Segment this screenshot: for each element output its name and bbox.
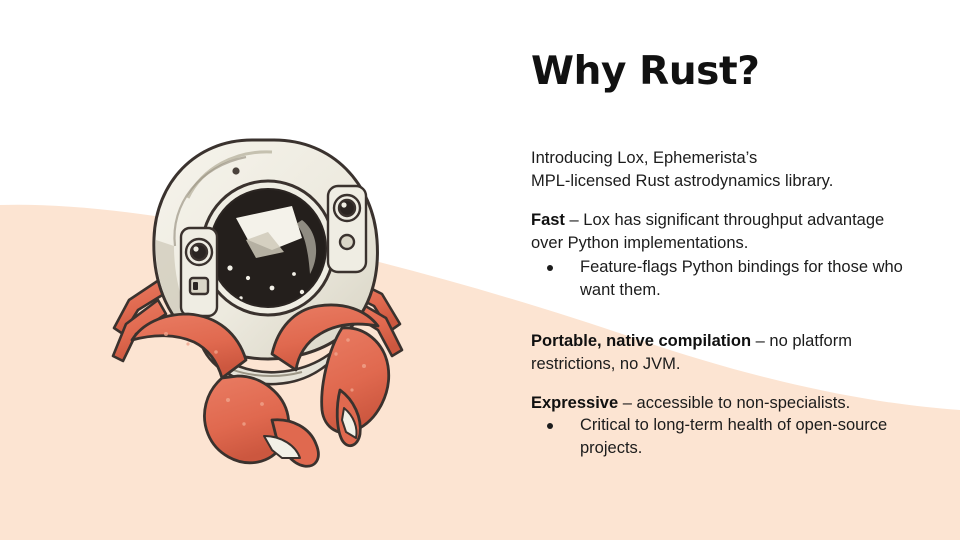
- point-portable-dash: –: [751, 332, 769, 350]
- bullet-critical-health: Critical to long-term health of open-sou…: [531, 414, 911, 460]
- point-expressive-rest: accessible to non-specialists.: [637, 394, 851, 412]
- point-fast-term: Fast: [531, 211, 565, 229]
- point-portable-term: Portable, native compilation: [531, 332, 751, 350]
- intro-line-1: Introducing Lox, Ephemerista’s: [531, 149, 757, 167]
- bullet-feature-flags-text: Feature-flags Python bindings for those …: [580, 256, 911, 302]
- bullet-feature-flags: Feature-flags Python bindings for those …: [531, 256, 911, 302]
- point-fast-dash: –: [565, 211, 583, 229]
- bullet-dot-icon: [547, 265, 553, 271]
- astronaut-crab-illustration: [96, 128, 426, 468]
- intro-line-2: MPL-licensed Rust astrodynamics library.: [531, 172, 833, 190]
- point-fast-rest: Lox has significant throughput advantage…: [531, 211, 884, 252]
- point-expressive-term: Expressive: [531, 394, 618, 412]
- slide-content: Why Rust? Introducing Lox, Ephemerista’s…: [531, 0, 931, 540]
- point-expressive-dash: –: [618, 394, 636, 412]
- page-title: Why Rust?: [531, 49, 759, 95]
- slide-why-rust: Why Rust? Introducing Lox, Ephemerista’s…: [0, 0, 960, 540]
- bullet-critical-health-text: Critical to long-term health of open-sou…: [580, 414, 911, 460]
- intro-paragraph: Introducing Lox, Ephemerista’s MPL-licen…: [531, 147, 903, 193]
- bullet-dot-icon: [547, 423, 553, 429]
- point-fast: Fast – Lox has significant throughput ad…: [531, 209, 903, 255]
- point-expressive: Expressive – accessible to non-specialis…: [531, 392, 903, 415]
- point-portable: Portable, native compilation – no platfo…: [531, 330, 903, 376]
